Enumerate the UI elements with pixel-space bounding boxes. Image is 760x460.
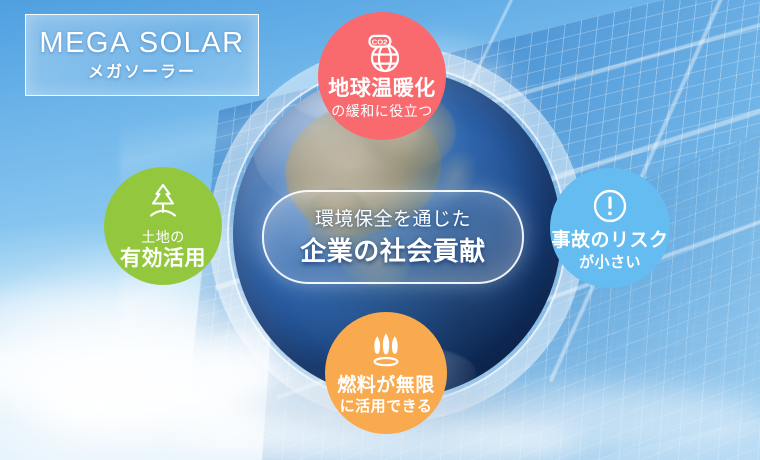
logo-subtitle: メガソーラー [88,65,196,81]
benefit-bubble-unlimited-fuel[interactable]: 燃料が無限 に活用できる [325,312,447,434]
bubble-subtitle: が小さい [579,255,641,271]
bubble-title: 事故のリスク [551,231,668,251]
svg-text:CO2: CO2 [372,37,388,46]
center-message-capsule: 環境保全を通じた 企業の社会貢献 [262,190,524,284]
infographic-canvas: MEGA SOLAR メガソーラー 環境保全を通じた 企業の社会貢献 CO2 地… [0,0,760,460]
logo-box: MEGA SOLAR メガソーラー [25,14,259,96]
bubble-subtitle: の緩和に役立つ [331,104,433,119]
exclamation-circle-icon [590,186,630,226]
lens-flare [246,356,272,382]
bubble-subtitle: に活用できる [340,399,433,415]
co2-globe-icon: CO2 [359,34,405,74]
benefit-bubble-low-risk[interactable]: 事故のリスク が小さい [550,168,670,288]
tree-icon [140,182,186,224]
bubble-title: 有効活用 [120,248,206,270]
bubble-title: 地球温暖化 [328,78,436,100]
benefit-bubble-global-warming[interactable]: CO2 地球温暖化 の緩和に役立つ [318,12,446,140]
benefit-bubble-land-use[interactable]: 土地の 有効活用 [104,167,222,285]
center-message-line2: 企業の社会貢献 [300,238,486,264]
logo-title: MEGA SOLAR [39,29,244,58]
bubble-title: 燃料が無限 [337,376,435,396]
center-message-line1: 環境保全を通じた [315,210,471,229]
lens-flare [196,300,218,322]
bubble-subtitle: 土地の [141,230,185,245]
flame-burner-icon [364,332,408,370]
